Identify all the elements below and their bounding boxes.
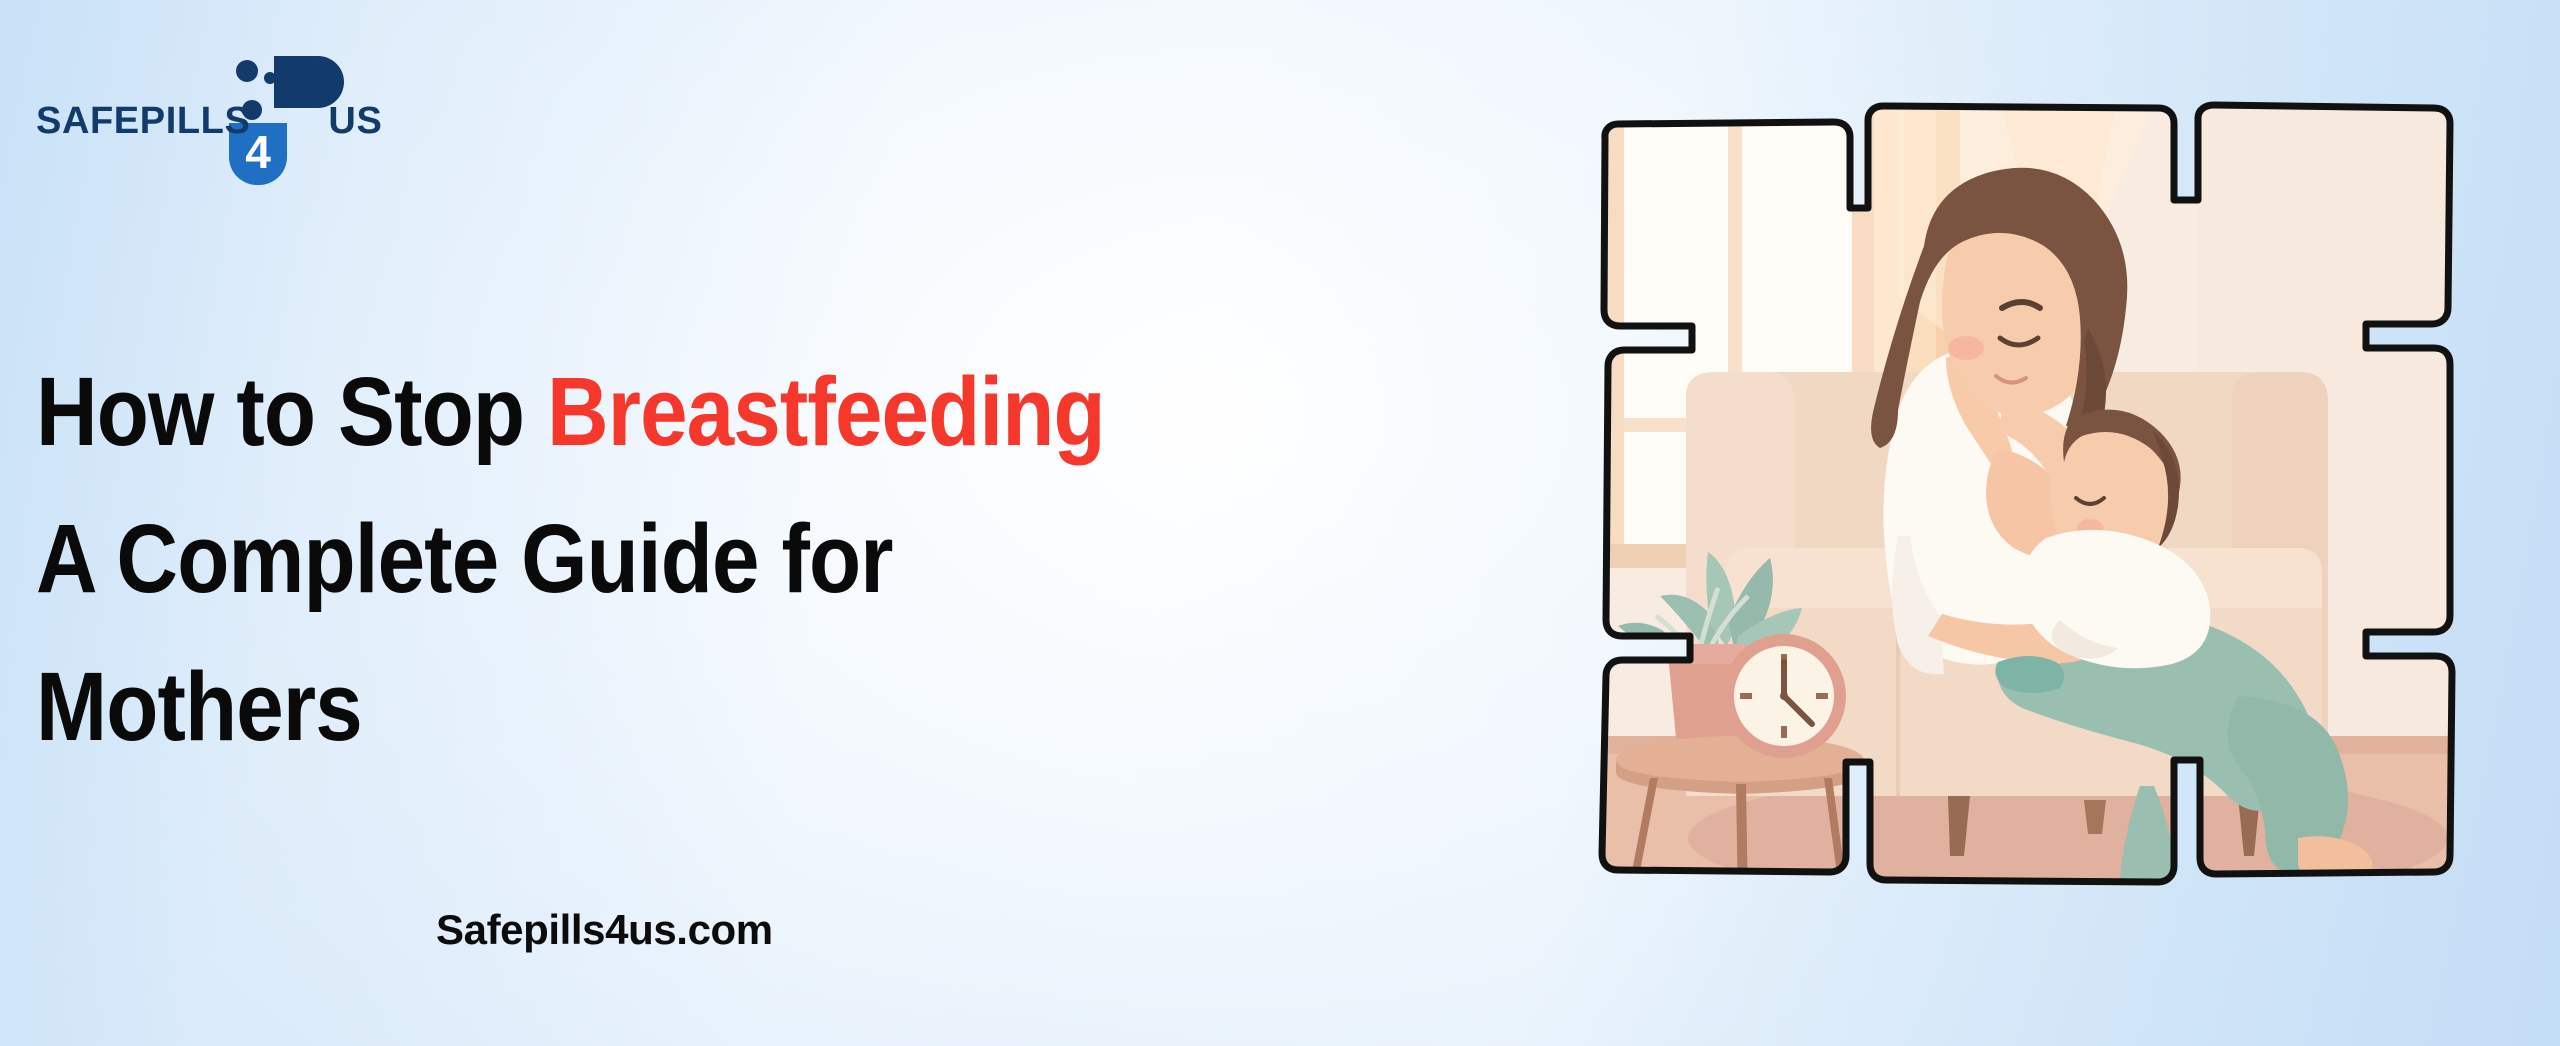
bubble-dot-large-icon — [236, 60, 258, 82]
illustration-svg — [1598, 96, 2460, 906]
logo-word-us: US — [328, 100, 382, 142]
bubble-dot-small-icon — [264, 72, 276, 84]
brand-logo[interactable]: 4 SAFEPILLSUS — [36, 28, 326, 146]
headline-line-2: A Complete Guide for — [36, 485, 1409, 632]
headline-accent-word: Breastfeeding — [547, 357, 1105, 466]
hero-banner: 4 SAFEPILLSUS How to Stop Breastfeeding … — [0, 0, 2560, 1046]
logo-wordmark: SAFEPILLSUS — [36, 100, 382, 143]
site-url-label: Safepills4us.com — [436, 906, 773, 954]
hero-illustration — [1598, 96, 2460, 906]
headline-line-1: How to Stop Breastfeeding — [36, 338, 1409, 485]
headline-line-3: Mothers — [36, 633, 1409, 780]
illustration-scene — [1598, 96, 2460, 906]
warm-overlay — [1598, 96, 2460, 906]
logo-word-safepills: SAFEPILLS — [36, 100, 250, 142]
page-title: How to Stop Breastfeeding A Complete Gui… — [36, 338, 1409, 780]
headline-line-1-plain: How to Stop — [36, 357, 547, 466]
